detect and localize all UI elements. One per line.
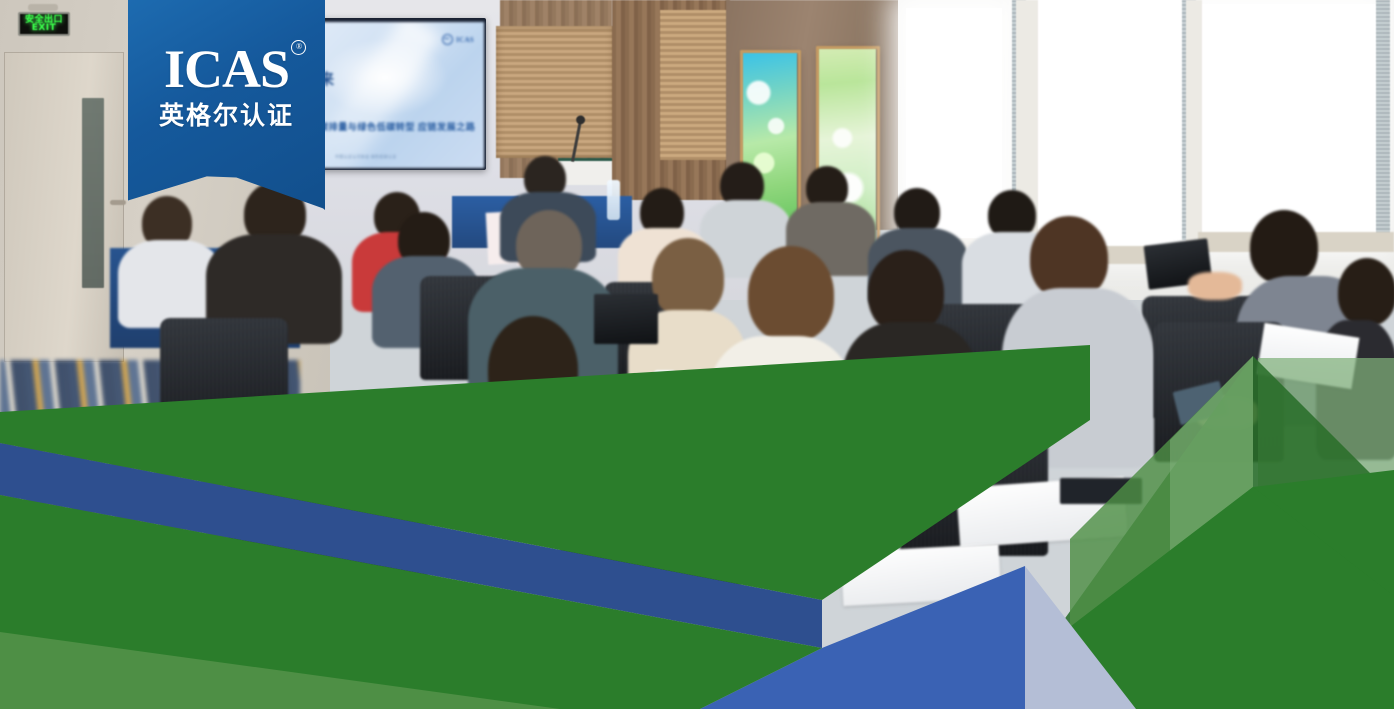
- registered-trademark-icon: ®: [291, 40, 306, 55]
- icas-wordmark: ICAS ®: [164, 42, 289, 96]
- icas-chinese-name: 英格尔认证: [159, 102, 294, 130]
- icas-wordmark-text: ICAS: [164, 39, 289, 99]
- banner-canvas: 安全出口 EXIT ICAS 来 碳排量与绿色低碳转型 应链发展之路 中国认证认…: [0, 0, 1394, 709]
